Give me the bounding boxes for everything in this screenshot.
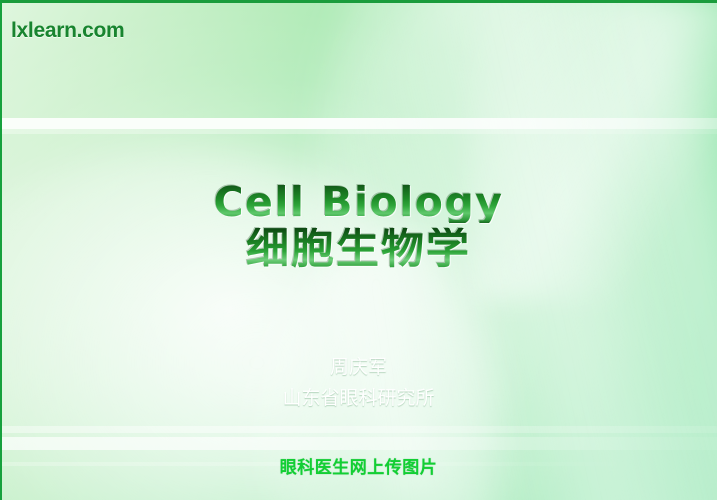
- title-block: Cell Biology 细胞生物学: [0, 182, 717, 271]
- byline-block: 周庆军 山东省眼科研究所: [0, 352, 717, 414]
- site-logo-text[interactable]: lxlearn.com: [11, 19, 124, 43]
- presentation-title-slide: lxlearn.com Cell Biology 细胞生物学 周庆军 山东省眼科…: [0, 0, 717, 500]
- author-name: 周庆军: [0, 352, 717, 383]
- title-english: Cell Biology: [213, 182, 503, 223]
- top-border-rule: [0, 0, 717, 3]
- title-chinese: 细胞生物学: [0, 228, 717, 271]
- divider-band-lower-thin: [0, 426, 717, 433]
- divider-band-lower: [0, 437, 717, 450]
- footer-watermark: 眼科医生网上传图片: [0, 453, 717, 478]
- author-affiliation: 山东省眼科研究所: [0, 383, 717, 414]
- divider-band-upper: [0, 118, 717, 129]
- divider-band-upper-soft: [0, 129, 717, 134]
